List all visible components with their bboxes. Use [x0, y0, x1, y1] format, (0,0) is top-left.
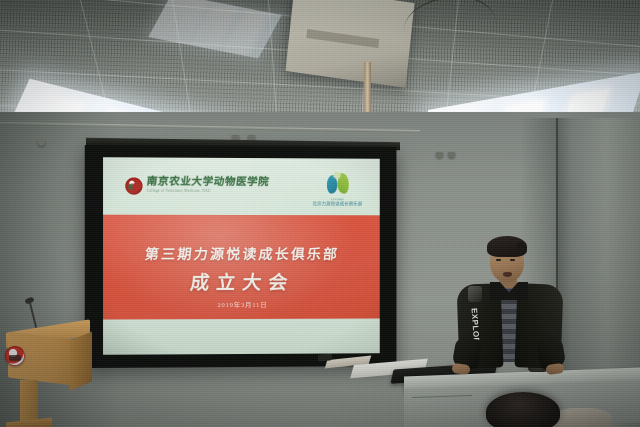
wall-fixture	[38, 140, 45, 146]
photograph-scene: 南京农业大学动物医学院 College of Veterinary Medici…	[0, 0, 640, 427]
sponsor-logo: LIYUAN 北京力源悦读成长俱乐部	[320, 172, 356, 207]
sponsor-name-cn: 北京力源悦读成长俱乐部	[312, 201, 362, 207]
university-name-en: College of Veterinary Medicine, NAU	[147, 190, 269, 194]
presenter: EXPLORE	[446, 234, 574, 380]
presenter-hair	[487, 236, 527, 257]
mobile-phone	[318, 353, 332, 361]
lectern-emblem-icon	[5, 346, 25, 366]
logo-dot	[334, 171, 341, 178]
lectern-side-panel	[70, 332, 92, 391]
presenter-hand-left	[451, 363, 470, 375]
projection-screen: 南京农业大学动物医学院 College of Veterinary Medici…	[85, 145, 397, 368]
foreground-audience-shoulder	[552, 408, 612, 427]
foreground-audience-member	[486, 392, 560, 427]
presenter-sleeve-patch	[468, 286, 482, 302]
lectern-base	[6, 418, 52, 427]
slide-title-main: 第三期力源悦读成长俱乐部	[103, 244, 380, 264]
university-logo: 南京农业大学动物医学院 College of Veterinary Medici…	[125, 177, 269, 195]
slide-footer-band	[103, 318, 380, 355]
wooden-lectern	[6, 316, 102, 427]
presenter-mouth	[503, 272, 512, 277]
presenter-eye-right	[510, 259, 515, 261]
wall-fixture	[448, 152, 455, 158]
slide-date: 2019年3月11日	[103, 299, 380, 310]
leaf-bird-icon	[326, 172, 350, 196]
wall-fixture	[436, 152, 443, 158]
university-logo-text: 南京农业大学动物医学院 College of Veterinary Medici…	[147, 178, 269, 194]
ceiling	[0, 0, 640, 128]
presentation-slide: 南京农业大学动物医学院 College of Veterinary Medici…	[103, 157, 380, 355]
university-seal-icon	[125, 177, 142, 194]
university-name-cn: 南京农业大学动物医学院	[146, 178, 270, 189]
slide-title-sub: 成立大会	[103, 268, 380, 295]
presenter-eye-left	[496, 259, 501, 261]
presenter-hand-right	[545, 363, 564, 375]
